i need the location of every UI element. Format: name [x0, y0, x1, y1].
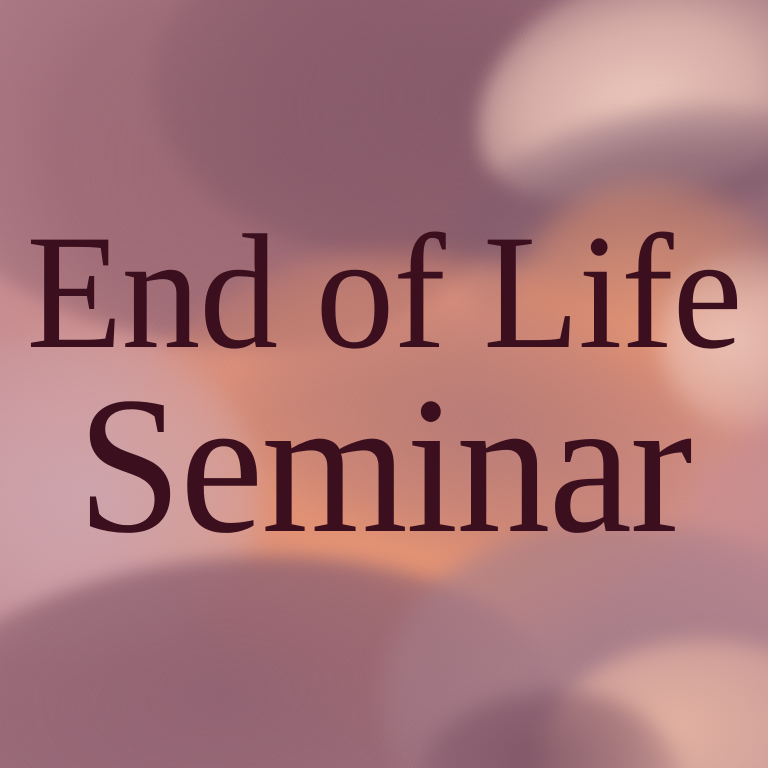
poster-title-line-2: Seminar [15, 375, 752, 557]
poster-title-line-1: End of Life [15, 217, 752, 370]
poster-canvas: End of Life Seminar [0, 0, 768, 768]
poster-headline: End of Life Seminar [0, 0, 768, 768]
